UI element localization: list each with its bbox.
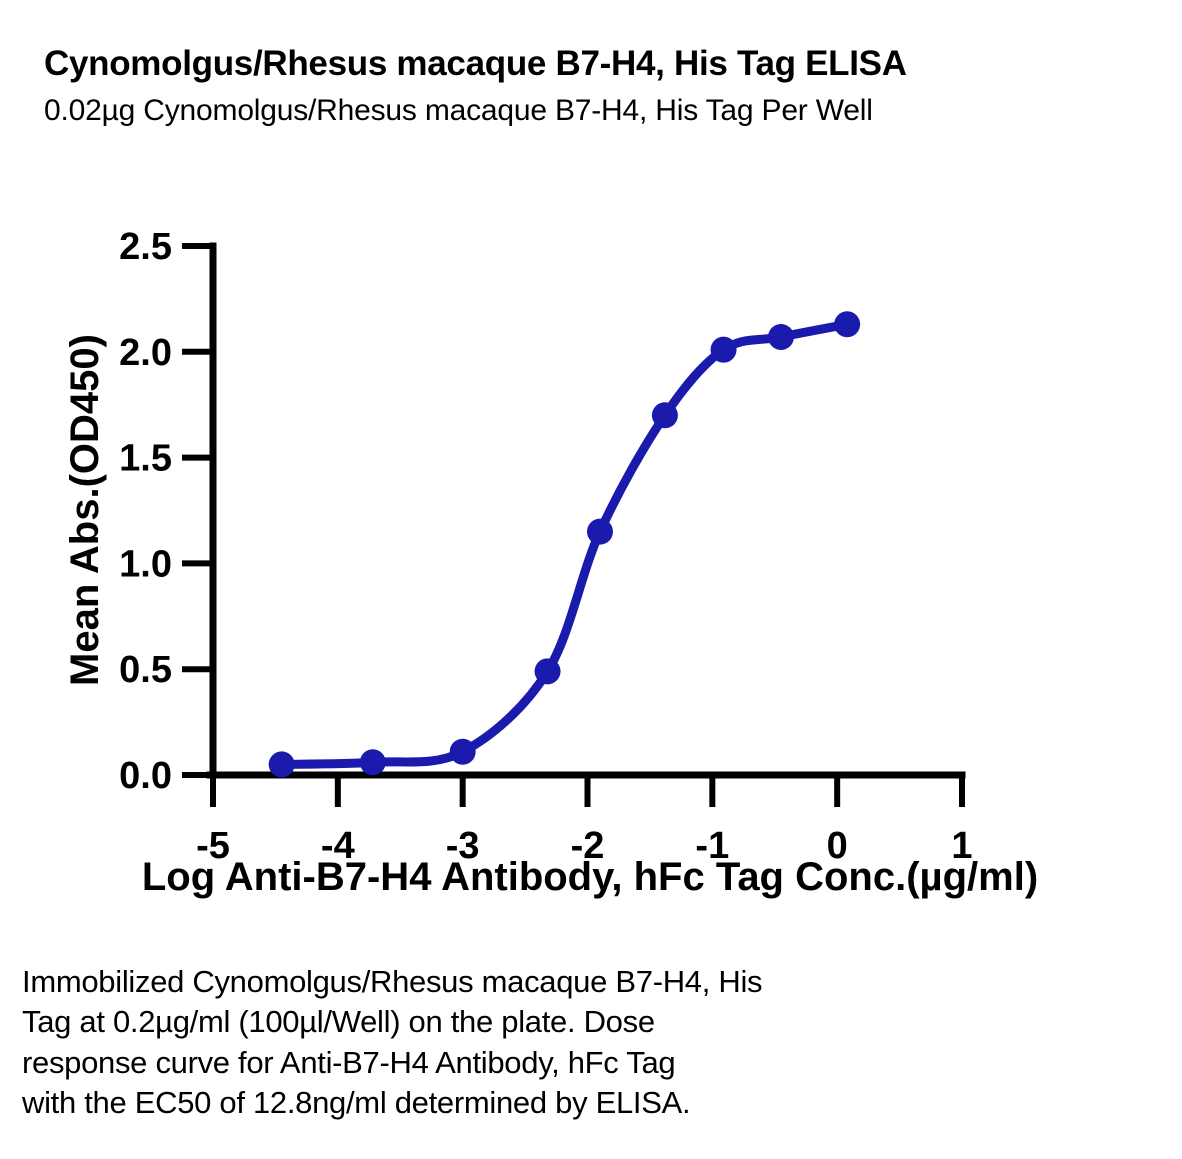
y-tick-label: 2.5 xyxy=(119,226,172,268)
chart-header: Cynomolgus/Rhesus macaque B7-H4, His Tag… xyxy=(44,44,1144,129)
data-point-marker xyxy=(834,311,860,337)
y-tick-label: 0.5 xyxy=(119,649,172,691)
y-axis-title: Mean Abs.(OD450) xyxy=(63,334,107,686)
data-curve xyxy=(282,324,847,764)
data-point-marker xyxy=(768,324,794,350)
y-tick-label: 0.0 xyxy=(119,755,172,797)
figure-caption: Immobilized Cynomolgus/Rhesus macaque B7… xyxy=(22,962,1102,1123)
data-point-marker xyxy=(652,402,678,428)
data-point-marker xyxy=(450,739,476,765)
data-point-marker xyxy=(711,337,737,363)
y-tick-label: 1.0 xyxy=(119,543,172,585)
data-point-marker xyxy=(587,519,613,545)
data-point-marker xyxy=(360,749,386,775)
x-axis-ticks: -5-4-3-2-101 xyxy=(196,775,972,867)
chart-plot-area: 0.00.51.01.52.02.5 -5-4-3-2-101 Mean Abs… xyxy=(0,190,1182,930)
chart-subtitle: 0.02µg Cynomolgus/Rhesus macaque B7-H4, … xyxy=(44,94,1144,129)
data-series-group xyxy=(269,311,860,777)
elisa-dose-response-chart: 0.00.51.01.52.02.5 -5-4-3-2-101 Mean Abs… xyxy=(0,190,1182,930)
x-axis-title: Log Anti-B7-H4 Antibody, hFc Tag Conc.(µ… xyxy=(142,855,1038,899)
y-tick-label: 2.0 xyxy=(119,332,172,374)
data-point-marker xyxy=(269,751,295,777)
page-title: Cynomolgus/Rhesus macaque B7-H4, His Tag… xyxy=(44,44,1144,83)
y-axis-ticks: 0.00.51.01.52.02.5 xyxy=(119,226,213,797)
y-tick-label: 1.5 xyxy=(119,438,172,480)
data-point-marker xyxy=(535,658,561,684)
